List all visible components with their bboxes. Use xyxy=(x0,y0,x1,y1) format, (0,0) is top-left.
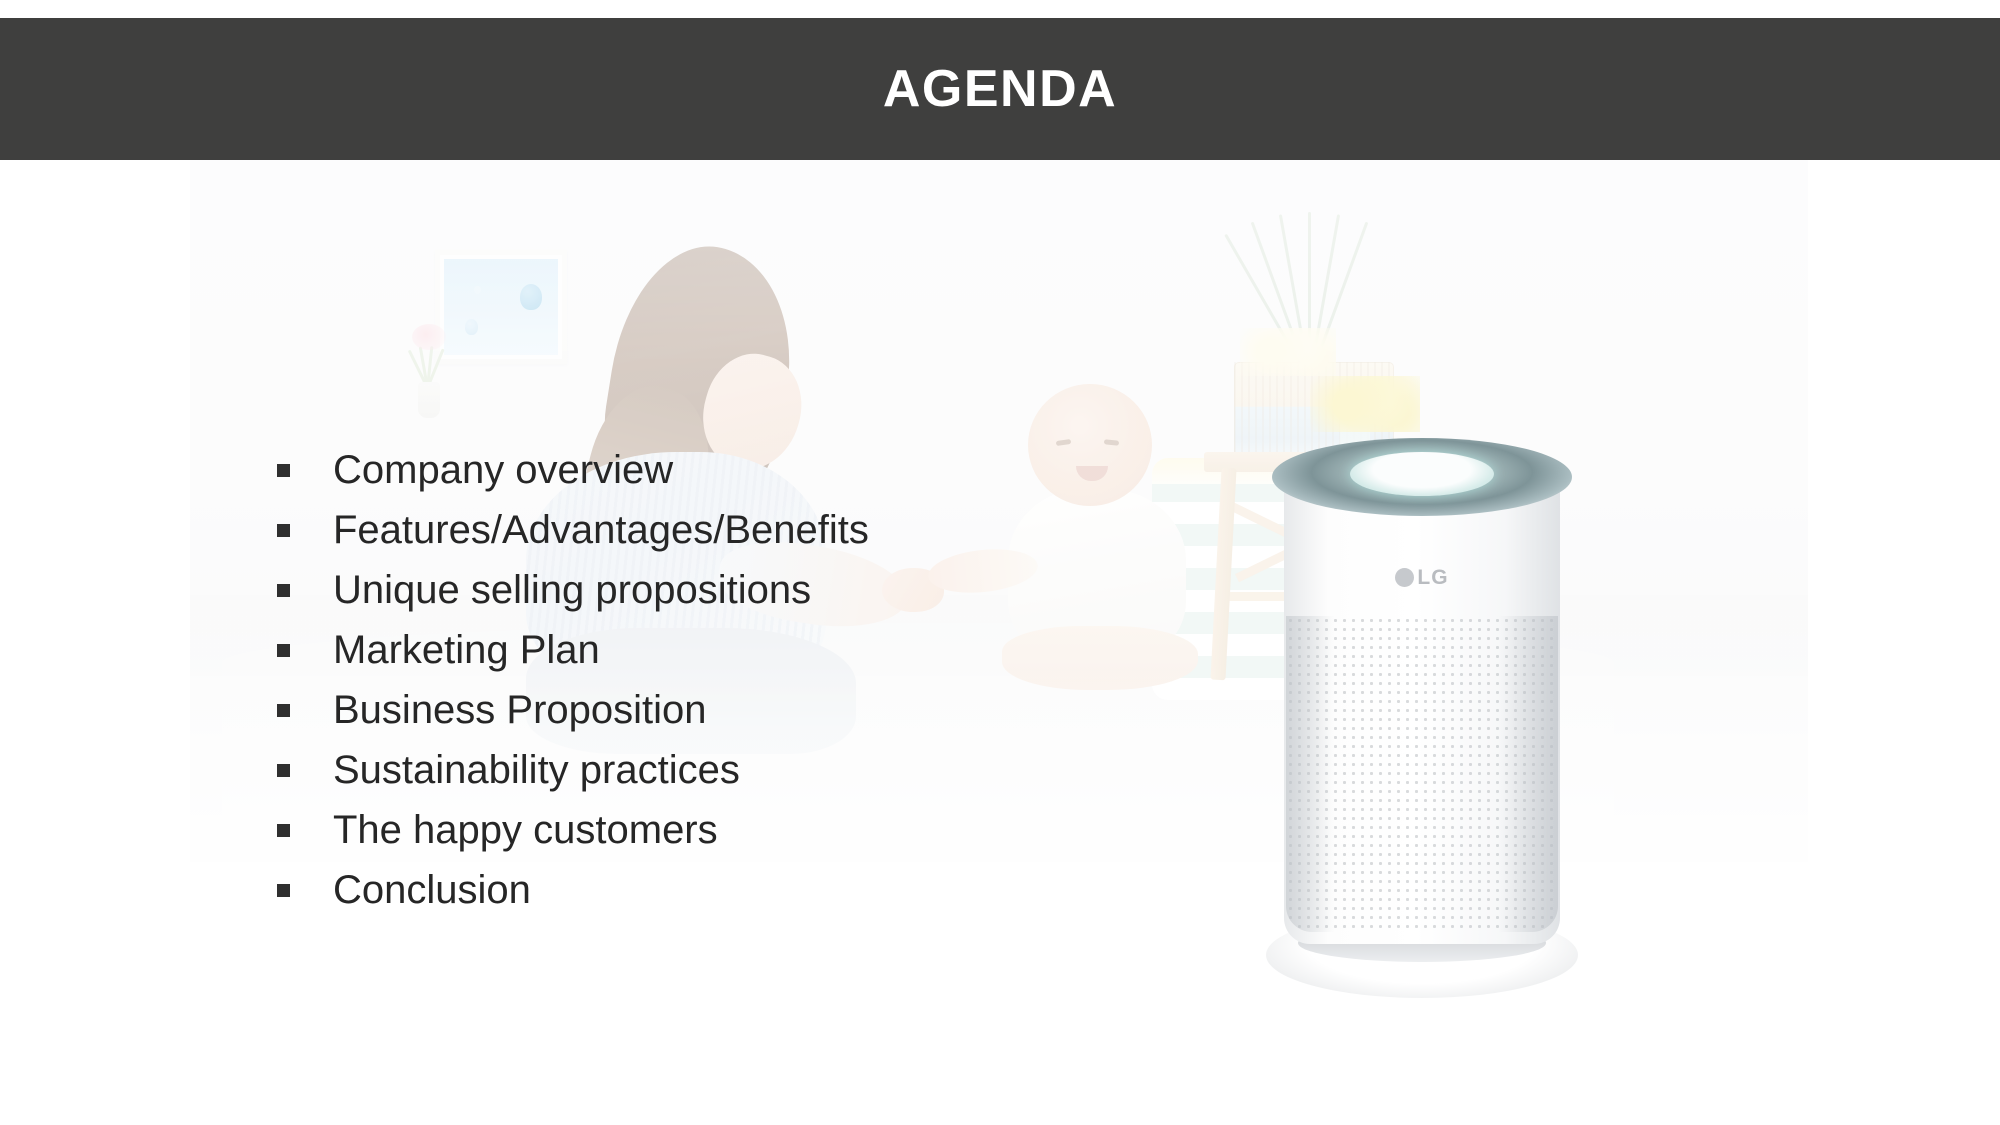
list-item-label: Features/Advantages/Benefits xyxy=(333,510,869,550)
bullet-square-icon xyxy=(277,524,290,537)
list-item-label: Business Proposition xyxy=(333,690,707,730)
bullet-square-icon xyxy=(277,584,290,597)
bullet-square-icon xyxy=(277,884,290,897)
lg-air-purifier: LG xyxy=(1272,438,1572,1018)
yellow-flowers-icon xyxy=(1310,376,1420,432)
agenda-list: Company overview Features/Advantages/Ben… xyxy=(277,440,869,920)
page-title: AGENDA xyxy=(883,63,1117,115)
pink-flower-icon xyxy=(412,324,446,350)
list-item: The happy customers xyxy=(277,800,869,860)
list-item-label: Sustainability practices xyxy=(333,750,740,790)
list-item-label: Company overview xyxy=(333,450,673,490)
list-item-label: The happy customers xyxy=(333,810,718,850)
list-item: Features/Advantages/Benefits xyxy=(277,500,869,560)
bullet-square-icon xyxy=(277,464,290,477)
list-item: Conclusion xyxy=(277,860,869,920)
bullet-square-icon xyxy=(277,644,290,657)
bullet-square-icon xyxy=(277,704,290,717)
list-item-label: Unique selling propositions xyxy=(333,570,811,610)
list-item-label: Marketing Plan xyxy=(333,630,600,670)
bullet-square-icon xyxy=(277,824,290,837)
list-item: Sustainability practices xyxy=(277,740,869,800)
hot-air-balloon-icon xyxy=(465,319,478,335)
cloud-icon xyxy=(474,286,481,294)
bullet-square-icon xyxy=(277,764,290,777)
list-item-label: Conclusion xyxy=(333,870,531,910)
list-item: Marketing Plan xyxy=(277,620,869,680)
slide-title-bar: AGENDA xyxy=(0,18,2000,160)
list-item: Unique selling propositions xyxy=(277,560,869,620)
slide: AGENDA xyxy=(0,0,2000,1125)
lg-logo: LG xyxy=(1272,566,1572,590)
list-item: Company overview xyxy=(277,440,869,500)
white-flowers-icon xyxy=(1240,328,1336,376)
list-item: Business Proposition xyxy=(277,680,869,740)
